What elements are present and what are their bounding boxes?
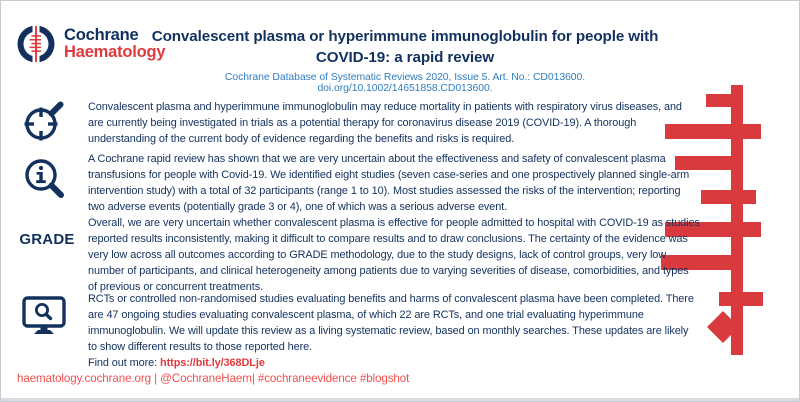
footer-text: haematology.cochrane.org | @CochraneHaem… (17, 372, 409, 385)
find-out-more-label: Find out more: (88, 357, 160, 369)
section-icon-2 (9, 156, 79, 200)
section-text-3: Overall, we are very uncertain whether c… (88, 216, 700, 296)
cochrane-logo-icon (15, 23, 57, 65)
section-text-4: RCTs or controlled non-randomised studie… (88, 292, 700, 372)
info-magnifier-icon (22, 156, 66, 200)
blogshot-infographic: Cochrane Haematology Convalescent plasma… (0, 0, 800, 402)
cochrane-haematology-logo: Cochrane Haematology (15, 23, 165, 65)
monitor-search-icon (21, 295, 67, 337)
target-magnifier-icon (22, 99, 66, 143)
section-text-2: A Cochrane rapid review has shown that w… (88, 152, 700, 216)
header: Cochrane Haematology Convalescent plasma… (1, 1, 800, 93)
page-title: Convalescent plasma or hyperimmune immun… (149, 27, 661, 68)
find-out-more-link[interactable]: https://bit.ly/368DLje (160, 357, 265, 369)
section-4-body: RCTs or controlled non-randomised studie… (88, 293, 694, 353)
section-icon-4 (9, 295, 79, 337)
grade-wordmark: GRADE (9, 231, 85, 248)
footer-bottom-border (1, 398, 800, 401)
section-text-1: Convalescent plasma and hyperimmune immu… (88, 100, 700, 148)
section-icon-1 (9, 99, 79, 143)
citation-line: Cochrane Database of Systematic Reviews … (139, 72, 671, 94)
